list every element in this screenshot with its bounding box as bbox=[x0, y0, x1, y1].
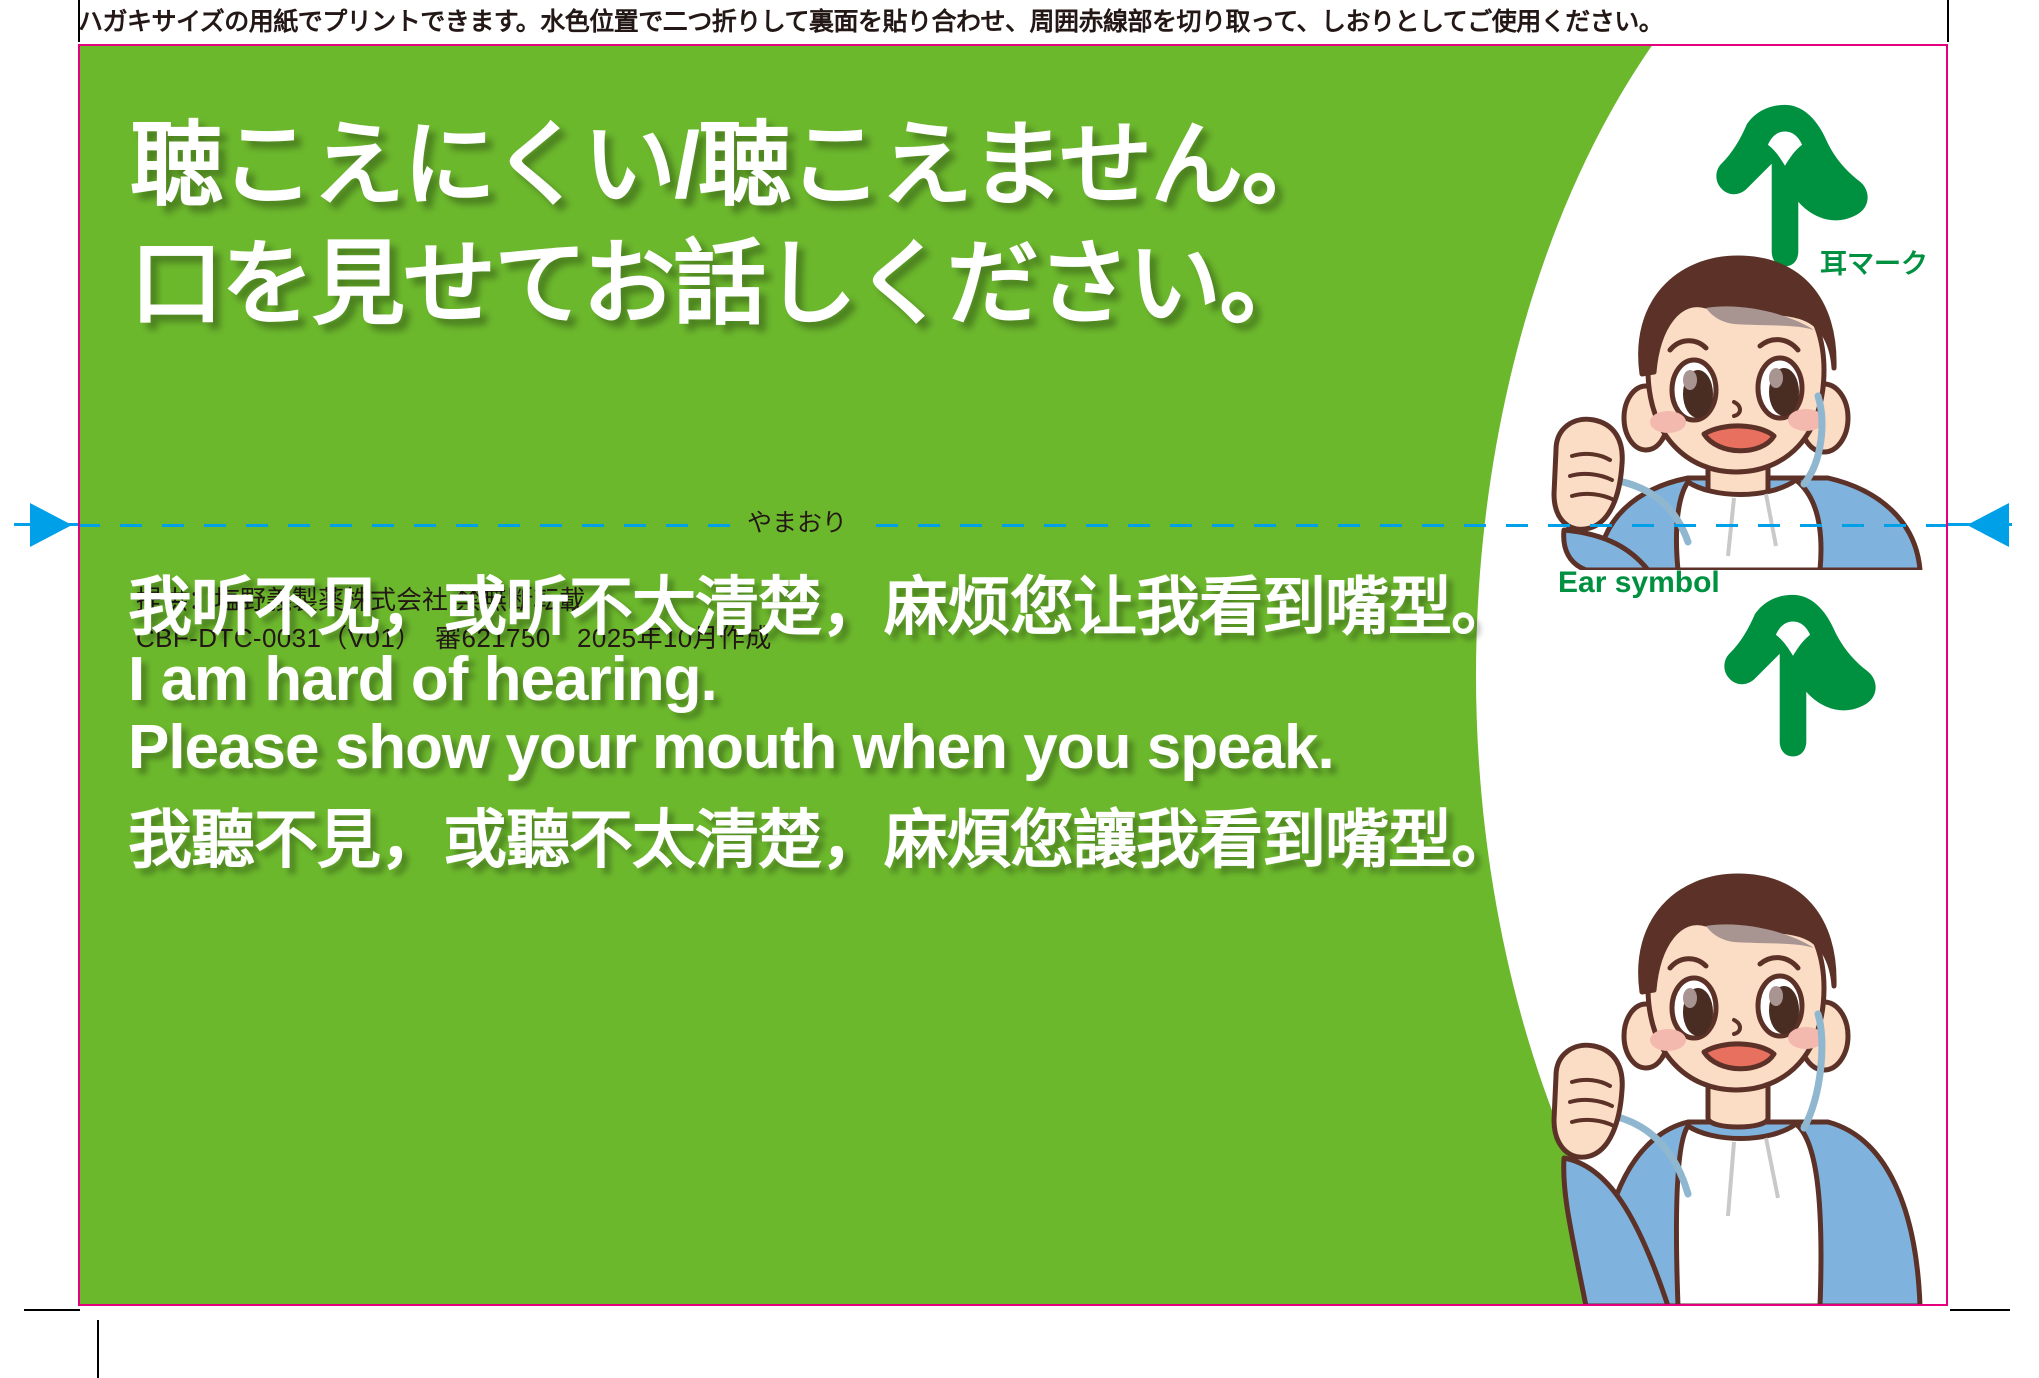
english-text-line-1: I am hard of hearing. bbox=[128, 644, 717, 715]
bookmark-card: 聴こえにくい/聴こえません。 口を見せてお話しください。 提供：塩野義製薬株式会… bbox=[78, 44, 1948, 1306]
poster-canvas: ハガキサイズの用紙でプリントできます。水色位置で二つ折りして裏面を貼り合わせ、周… bbox=[0, 0, 2039, 1378]
fold-dashed-line bbox=[78, 524, 1948, 527]
crop-mark-top-left-vertical bbox=[78, 0, 80, 42]
crop-mark-bottom-right-horizontal bbox=[1950, 1309, 2010, 1311]
chinese-traditional-text: 我聽不見，或聽不太清楚，麻煩您讓我看到嘴型。 bbox=[128, 789, 1514, 881]
fold-arrow-left-icon bbox=[30, 503, 72, 547]
japanese-headline: 聴こえにくい/聴こえません。 口を見せてお話しください。 bbox=[130, 106, 1630, 344]
boy-illustration-bottom bbox=[1528, 746, 1948, 1306]
print-instruction-text: ハガキサイズの用紙でプリントできます。水色位置で二つ折りして裏面を貼り合わせ、周… bbox=[78, 4, 1948, 40]
crop-mark-top-right-vertical bbox=[1947, 0, 1949, 42]
headline-line-1: 聴こえにくい/聴こえません。 bbox=[130, 106, 1630, 225]
crop-mark-bottom-left-horizontal bbox=[24, 1309, 80, 1311]
headline-line-2: 口を見せてお話しください。 bbox=[130, 225, 1630, 344]
fold-label: やまおり bbox=[733, 502, 861, 544]
english-text-line-2: Please show your mouth when you speak. bbox=[128, 712, 1334, 783]
chinese-simplified-text: 我听不见，或听不太清楚，麻烦您让我看到嘴型。 bbox=[128, 556, 1514, 648]
crop-mark-bottom-left-vertical bbox=[97, 1320, 99, 1378]
ear-mark-icon-bottom bbox=[1698, 574, 1888, 764]
ear-symbol-label-bottom: Ear symbol bbox=[1558, 566, 1720, 600]
fold-arrow-right-icon bbox=[1967, 503, 2009, 547]
boy-illustration-top bbox=[1528, 250, 1948, 570]
